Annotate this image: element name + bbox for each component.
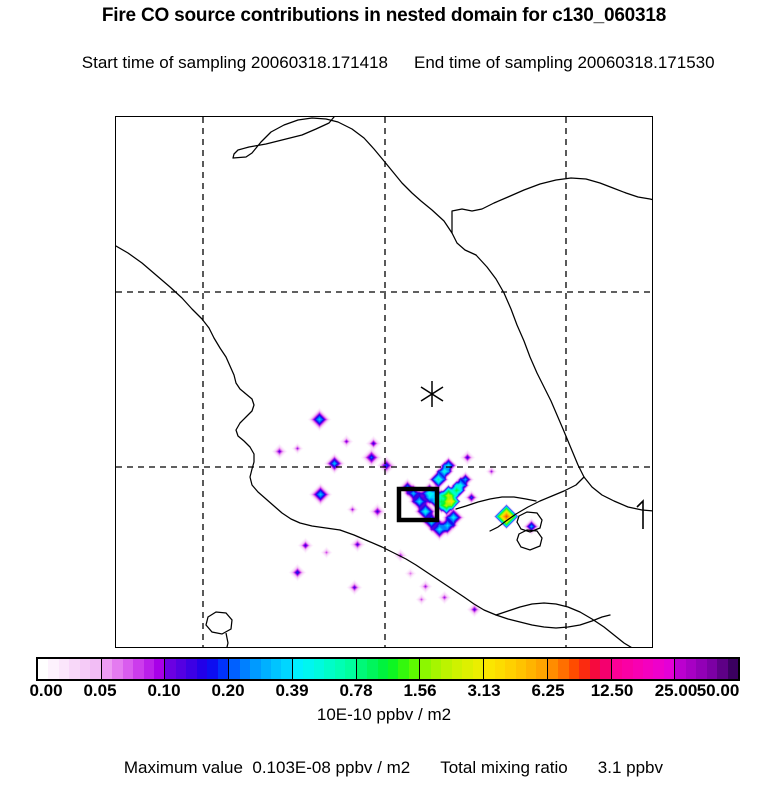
colorbar-step xyxy=(335,659,345,679)
map-overlay xyxy=(116,117,653,648)
sampling-time-line: Start time of sampling 20060318.171418En… xyxy=(0,27,768,99)
colorbar-step xyxy=(303,659,313,679)
colorbar-tick-label: 0.10 xyxy=(147,681,180,701)
colorbar-step xyxy=(324,659,334,679)
colorbar-band xyxy=(675,659,738,679)
colorbar-step xyxy=(398,659,408,679)
graticule-lines xyxy=(116,117,653,648)
colorbar-step xyxy=(600,659,610,679)
colorbar-tick-label: 6.25 xyxy=(531,681,564,701)
colorbar-step xyxy=(112,659,122,679)
colorbar-step xyxy=(696,659,706,679)
colorbar-tick-labels: 0.000.050.100.200.390.781.563.136.2512.5… xyxy=(0,681,768,703)
colorbar-tick-label: 3.13 xyxy=(467,681,500,701)
colorbar-band xyxy=(165,659,229,679)
coastline-east xyxy=(476,255,653,511)
colorbar-step xyxy=(643,659,653,679)
colorbar-step xyxy=(345,659,355,679)
colorbar-step xyxy=(293,659,303,679)
colorbar-step xyxy=(261,659,271,679)
colorbar-tick-label: 12.50 xyxy=(591,681,634,701)
colorbar-step xyxy=(59,659,69,679)
colorbar-step xyxy=(431,659,441,679)
colorbar-band xyxy=(102,659,166,679)
colorbar-step xyxy=(633,659,643,679)
colorbar-step xyxy=(367,659,377,679)
colorbar-step xyxy=(536,659,546,679)
colorbar-step xyxy=(388,659,398,679)
colorbar-step xyxy=(675,659,685,679)
colorbar-step xyxy=(462,659,472,679)
release-marker-asterisk-icon xyxy=(421,381,443,407)
lake-polygon xyxy=(517,530,542,550)
colorbar-step xyxy=(90,659,100,679)
colorbar-step xyxy=(80,659,90,679)
colorbar-step xyxy=(728,659,738,679)
colorbar-step xyxy=(197,659,207,679)
colorbar-tick-label: 25.00 xyxy=(655,681,698,701)
colorbar xyxy=(36,657,740,681)
colorbar-step xyxy=(250,659,260,679)
colorbar-step xyxy=(558,659,568,679)
colorbar-step xyxy=(590,659,600,679)
colorbar-step xyxy=(123,659,133,679)
colorbar-step xyxy=(707,659,717,679)
colorbar-step xyxy=(579,659,589,679)
lake-group xyxy=(206,512,542,648)
colorbar-step xyxy=(548,659,558,679)
colorbar-step xyxy=(473,659,483,679)
colorbar-step xyxy=(409,659,419,679)
colorbar-step xyxy=(165,659,175,679)
colorbar-step xyxy=(186,659,196,679)
figure-root: Fire CO source contributions in nested d… xyxy=(0,0,768,768)
colorbar-step xyxy=(69,659,79,679)
colorbar-step xyxy=(133,659,143,679)
colorbar-tick-label: 0.00 xyxy=(29,681,62,701)
colorbar-step xyxy=(505,659,515,679)
colorbar-step xyxy=(357,659,367,679)
colorbar-step xyxy=(240,659,250,679)
colorbar-band xyxy=(38,659,102,679)
lake-polygon xyxy=(517,512,542,532)
colorbar-step xyxy=(717,659,727,679)
colorbar-step xyxy=(526,659,536,679)
colorbar-band xyxy=(357,659,421,679)
colorbar-step xyxy=(441,659,451,679)
colorbar-step xyxy=(38,659,48,679)
colorbar-step xyxy=(378,659,388,679)
coastline-north xyxy=(233,117,476,255)
colorbar-step xyxy=(176,659,186,679)
colorbar-step xyxy=(281,659,291,679)
colorbar-bands xyxy=(36,657,740,681)
colorbar-band xyxy=(612,659,676,679)
colorbar-step xyxy=(516,659,526,679)
colorbar-step xyxy=(622,659,632,679)
colorbar-step xyxy=(102,659,112,679)
colorbar-tick-label: 0.20 xyxy=(211,681,244,701)
start-time-label: Start time of sampling 20060318.171418 xyxy=(82,53,388,72)
coastline-south xyxy=(340,530,610,628)
colorbar-step xyxy=(218,659,228,679)
colorbar-step xyxy=(612,659,622,679)
footer-summary: Maximum value 0.103E-08 ppbv / m2Total m… xyxy=(0,738,768,798)
colorbar-step xyxy=(154,659,164,679)
colorbar-step xyxy=(484,659,494,679)
end-time-label: End time of sampling 20060318.171530 xyxy=(414,53,715,72)
colorbar-band xyxy=(548,659,612,679)
colorbar-step xyxy=(314,659,324,679)
colorbar-tick-label: 0.39 xyxy=(275,681,308,701)
coastline-southeast xyxy=(496,603,634,648)
map-plot-area[interactable] xyxy=(115,116,653,648)
colorbar-step xyxy=(653,659,663,679)
colorbar-step xyxy=(495,659,505,679)
receptor-box xyxy=(399,489,437,520)
colorbar-tick-label: 50.00 xyxy=(697,681,740,701)
coastline-west xyxy=(116,246,340,530)
lake-polygon xyxy=(206,612,232,634)
colorbar-tick-label: 1.56 xyxy=(403,681,436,701)
colorbar-step xyxy=(452,659,462,679)
colorbar-step xyxy=(48,659,58,679)
colorbar-band xyxy=(420,659,484,679)
river-tail xyxy=(226,633,228,648)
scale-tick-annotation xyxy=(637,501,643,529)
colorbar-band xyxy=(229,659,293,679)
colorbar-tick-label: 0.05 xyxy=(83,681,116,701)
colorbar-step xyxy=(664,659,674,679)
colorbar-step xyxy=(144,659,154,679)
colorbar-tick-label: 0.78 xyxy=(339,681,372,701)
coastline-bay xyxy=(456,497,536,509)
colorbar-band xyxy=(484,659,548,679)
colorbar-step xyxy=(229,659,239,679)
colorbar-step xyxy=(207,659,217,679)
coastline-east-inlet xyxy=(490,477,584,531)
coastline-northeast xyxy=(452,178,653,233)
colorbar-step xyxy=(420,659,430,679)
colorbar-step xyxy=(569,659,579,679)
page-title: Fire CO source contributions in nested d… xyxy=(0,5,768,27)
colorbar-band xyxy=(293,659,357,679)
colorbar-unit-label: 10E-10 ppbv / m2 xyxy=(0,705,768,725)
colorbar-step xyxy=(686,659,696,679)
colorbar-step xyxy=(271,659,281,679)
